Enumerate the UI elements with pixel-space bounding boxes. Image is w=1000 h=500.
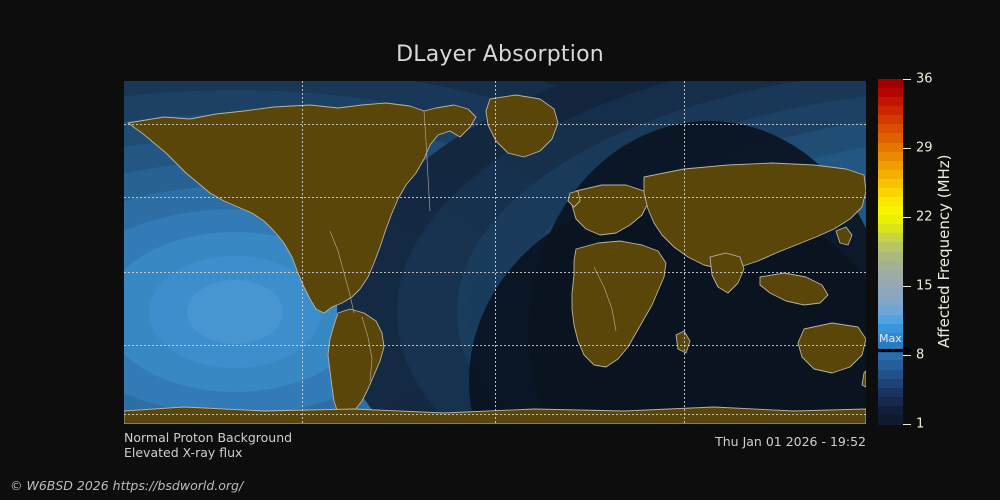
colorbar-tick-mark	[903, 79, 911, 80]
colorbar-tick-label: 8	[916, 348, 924, 363]
world-map[interactable]	[124, 81, 866, 424]
colorbar-tick-label: 36	[916, 72, 933, 87]
status-note-line1: Normal Proton Background	[124, 430, 292, 445]
gridline-lon-0	[495, 81, 496, 424]
max-arrow-icon	[878, 346, 914, 355]
colorbar-gradient	[878, 79, 903, 424]
colorbar-tick-mark	[903, 424, 911, 425]
colorbar-tick-mark	[903, 355, 911, 356]
colorbar-axis-label: Affected Frequency (MHz)	[934, 79, 954, 424]
colorbar-tick-mark	[903, 148, 911, 149]
colorbar-tick-label: 1	[916, 417, 924, 432]
colorbar-band	[878, 415, 903, 425]
screenshot-root: DLayer Absorption	[0, 0, 1000, 500]
page-title: DLayer Absorption	[0, 42, 1000, 67]
colorbar[interactable]: 3629221581 Max	[878, 79, 903, 424]
gridline-lon-90w	[302, 81, 303, 424]
timestamp: Thu Jan 01 2026 - 19:52	[715, 434, 866, 449]
max-marker-label: Max	[879, 333, 902, 344]
colorbar-tick-mark	[903, 286, 911, 287]
copyright-notice[interactable]: © W6BSD 2026 https://bsdworld.org/	[10, 478, 243, 493]
colorbar-tick-label: 29	[916, 141, 933, 156]
map-gridlines	[124, 81, 866, 424]
colorbar-tick-label: 22	[916, 210, 933, 225]
status-note-line2: Elevated X-ray flux	[124, 445, 242, 460]
colorbar-tick-label: 15	[916, 279, 933, 294]
gridline-lon-90e	[684, 81, 685, 424]
colorbar-tick-mark	[903, 217, 911, 218]
